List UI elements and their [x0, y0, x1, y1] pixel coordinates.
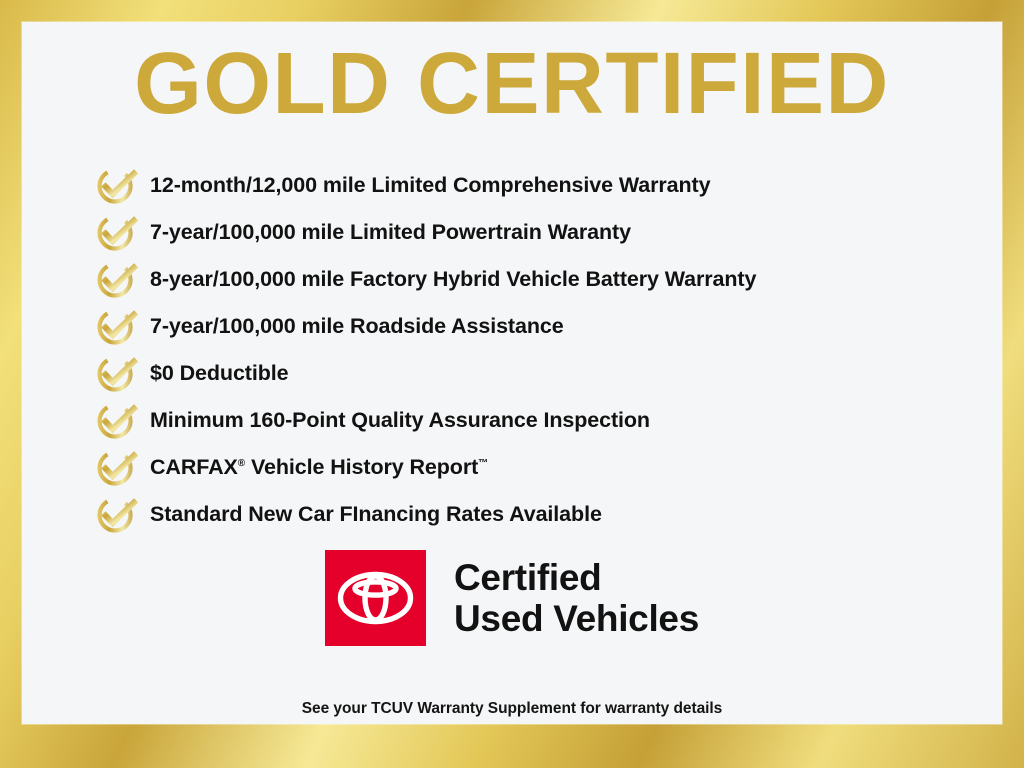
list-item: Minimum 160-Point Quality Assurance Insp…: [96, 397, 976, 444]
check-circle-icon: [96, 401, 150, 441]
check-circle-icon: [96, 307, 150, 347]
feature-label: 7-year/100,000 mile Roadside Assistance: [150, 314, 564, 339]
feature-list: 12-month/12,000 mile Limited Comprehensi…: [96, 162, 976, 538]
list-item: Standard New Car FInancing Rates Availab…: [96, 491, 976, 538]
feature-label: Standard New Car FInancing Rates Availab…: [150, 502, 602, 527]
certificate-inner-panel: GOLD CERTIFIED 12: [22, 22, 1002, 724]
logo-line-1: Certified: [454, 557, 699, 598]
warranty-footnote: See your TCUV Warranty Supplement for wa…: [22, 700, 1002, 718]
logo-wordmark: Certified Used Vehicles: [454, 557, 699, 640]
feature-label: 12-month/12,000 mile Limited Comprehensi…: [150, 173, 710, 198]
toyota-certified-used-vehicles-logo: Certified Used Vehicles: [22, 550, 1002, 646]
list-item: 7-year/100,000 mile Limited Powertrain W…: [96, 209, 976, 256]
check-circle-icon: [96, 260, 150, 300]
feature-label: 8-year/100,000 mile Factory Hybrid Vehic…: [150, 267, 756, 292]
feature-label: Minimum 160-Point Quality Assurance Insp…: [150, 408, 650, 433]
check-circle-icon: [96, 213, 150, 253]
toyota-emblem-icon: [325, 550, 426, 646]
list-item: CARFAX® Vehicle History Report™: [96, 444, 976, 491]
check-circle-icon: [96, 166, 150, 206]
logo-line-2: Used Vehicles: [454, 598, 699, 639]
feature-label: 7-year/100,000 mile Limited Powertrain W…: [150, 220, 631, 245]
gold-certified-certificate: GOLD CERTIFIED 12: [0, 0, 1024, 768]
check-circle-icon: [96, 495, 150, 535]
feature-label: CARFAX® Vehicle History Report™: [150, 455, 488, 480]
list-item: 8-year/100,000 mile Factory Hybrid Vehic…: [96, 256, 976, 303]
check-circle-icon: [96, 354, 150, 394]
feature-label: $0 Deductible: [150, 361, 289, 386]
page-title: GOLD CERTIFIED: [22, 40, 1002, 127]
list-item: $0 Deductible: [96, 350, 976, 397]
check-circle-icon: [96, 448, 150, 488]
list-item: 12-month/12,000 mile Limited Comprehensi…: [96, 162, 976, 209]
list-item: 7-year/100,000 mile Roadside Assistance: [96, 303, 976, 350]
